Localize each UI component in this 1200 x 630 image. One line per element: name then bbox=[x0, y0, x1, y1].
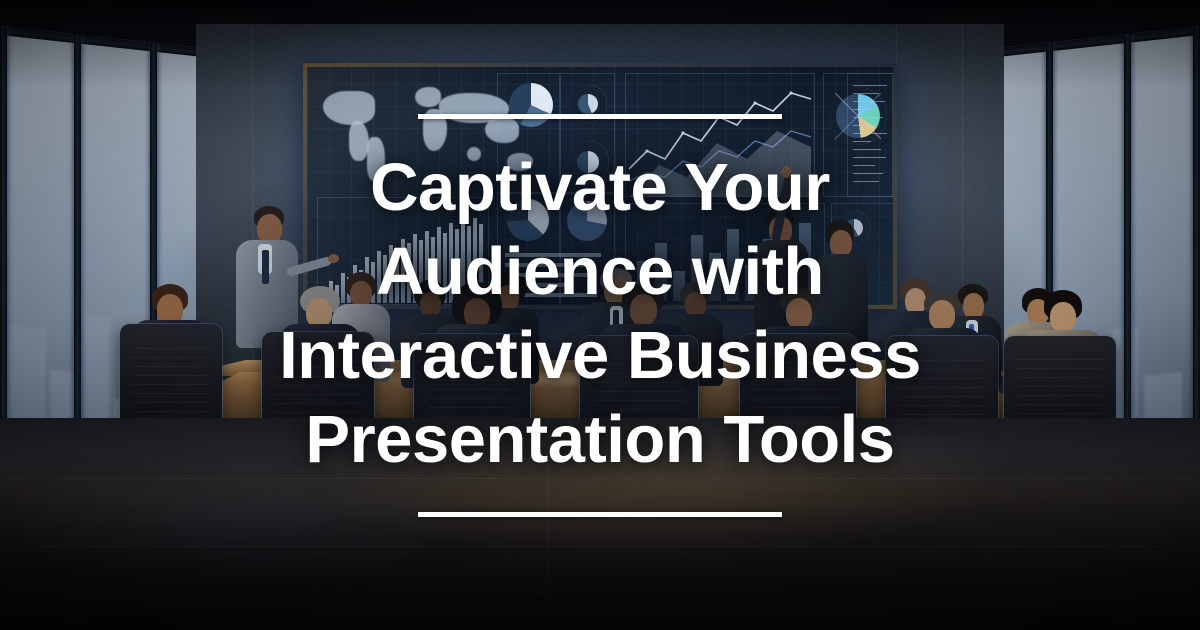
social-share-banner: Captivate Your Audience with Interactive… bbox=[0, 0, 1200, 630]
headline-line-4: Presentation Tools bbox=[305, 402, 894, 477]
headline-line-1: Captivate Your bbox=[370, 150, 830, 225]
bottom-divider-rule bbox=[418, 512, 782, 517]
headline-line-2: Audience with bbox=[376, 234, 824, 309]
headline-line-3: Interactive Business bbox=[279, 318, 921, 393]
top-divider-rule bbox=[418, 114, 782, 119]
page-title: Captivate Your Audience with Interactive… bbox=[279, 146, 921, 482]
headline-overlay: Captivate Your Audience with Interactive… bbox=[0, 0, 1200, 630]
